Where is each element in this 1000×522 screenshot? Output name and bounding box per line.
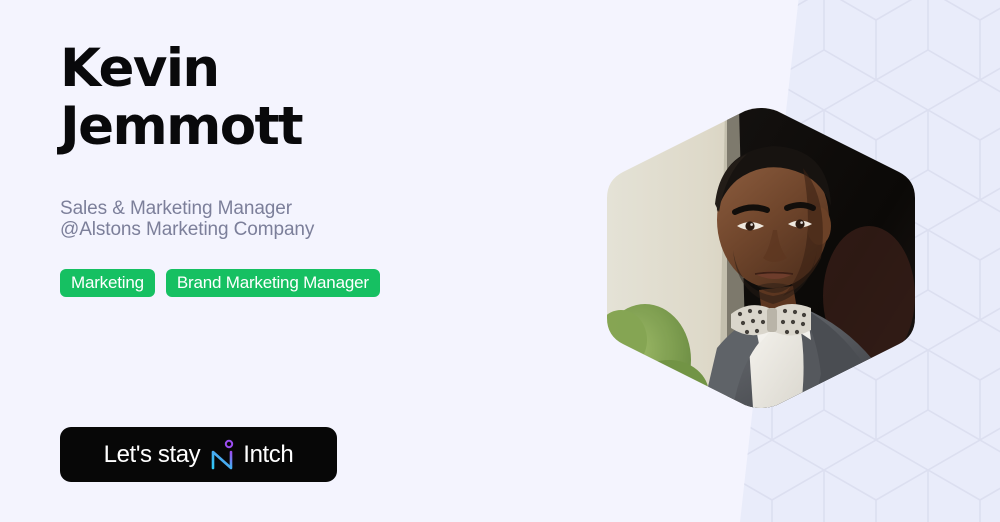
- person-headline: Sales & Marketing Manager @Alstons Marke…: [60, 199, 314, 240]
- profile-photo-image: [607, 108, 915, 408]
- person-role: Sales & Marketing Manager: [60, 199, 314, 220]
- tag-list: Marketing Brand Marketing Manager: [60, 269, 380, 297]
- profile-card: Kevin Jemmott Sales & Marketing Manager …: [0, 0, 1000, 522]
- person-company: @Alstons Marketing Company: [60, 220, 314, 241]
- tag-brand-marketing-manager[interactable]: Brand Marketing Manager: [166, 269, 380, 297]
- profile-photo: [607, 108, 915, 408]
- intch-n-logo-icon: [209, 438, 235, 472]
- tag-marketing[interactable]: Marketing: [60, 269, 155, 297]
- profile-photo-mask: [607, 108, 915, 408]
- person-name-line-1: Kevin: [60, 38, 219, 99]
- lets-stay-intch-button[interactable]: Let's stay Intch: [60, 427, 337, 482]
- cta-label-brand: Intch: [243, 443, 293, 467]
- profile-info-column: Kevin Jemmott Sales & Marketing Manager …: [60, 0, 580, 522]
- cta-label-prefix: Let's stay: [104, 443, 201, 467]
- page-title: Kevin Jemmott: [60, 40, 480, 156]
- person-name-line-2: Jemmott: [60, 96, 302, 157]
